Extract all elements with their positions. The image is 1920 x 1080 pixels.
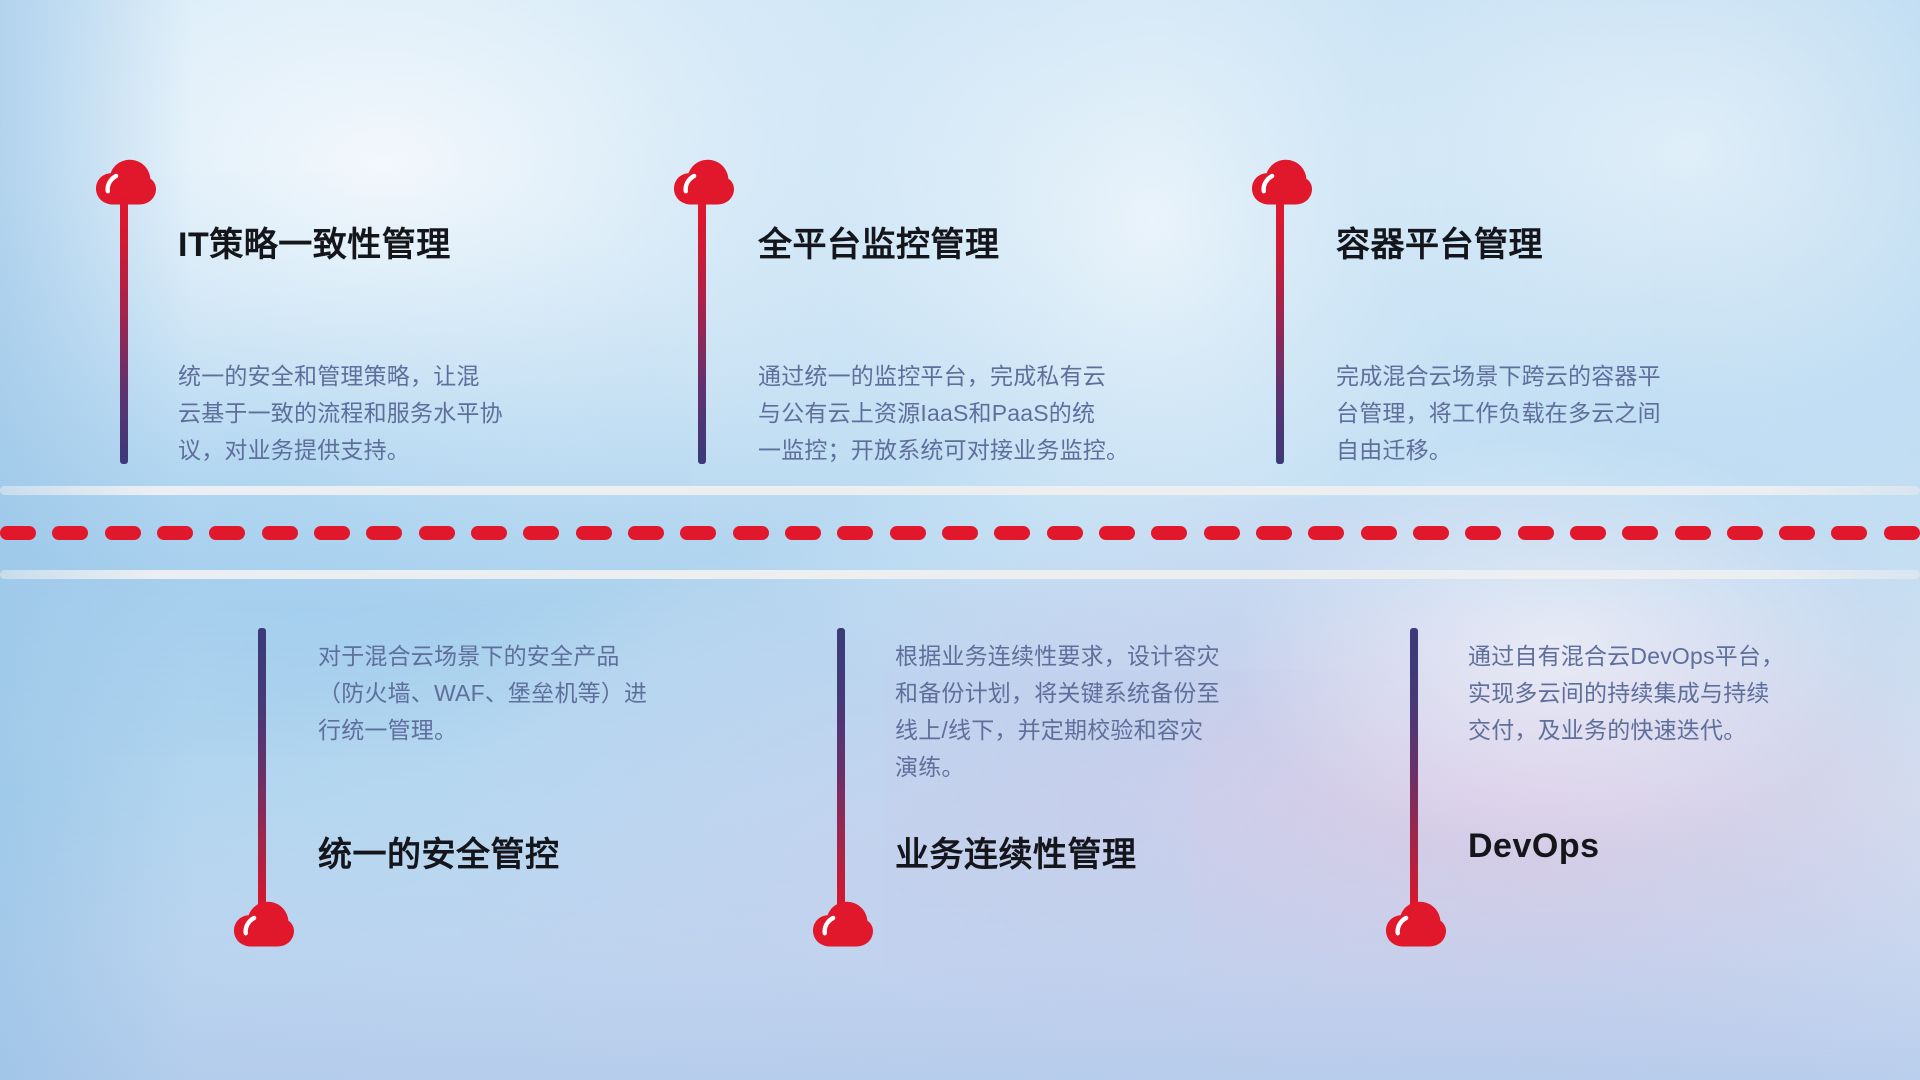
divider-dash [105,526,141,540]
card-description: 对于混合云场景下的安全产品 （防火墙、WAF、堡垒机等）进 行统一管理。 [318,638,748,749]
connector-line [1410,628,1418,908]
divider-dash [890,526,926,540]
divider-dash [942,526,978,540]
connector-line [837,628,845,908]
card-description: 统一的安全和管理策略，让混 云基于一致的流程和服务水平协 议，对业务提供支持。 [178,358,618,469]
divider-dash [419,526,455,540]
card-description: 完成混合云场景下跨云的容器平 台管理，将工作负载在多云之间 自由迁移。 [1336,358,1776,469]
divider-dash [1151,526,1187,540]
divider-dash [994,526,1030,540]
divider-dash [1204,526,1240,540]
card-description: 通过统一的监控平台，完成私有云 与公有云上资源IaaS和PaaS的统 一监控；开… [758,358,1218,469]
card-title: 全平台监控管理 [758,217,1000,266]
section-divider [0,486,1920,586]
divider-dash [1518,526,1554,540]
divider-dash [1256,526,1292,540]
divider-rail-top [0,486,1920,495]
card-description: 通过自有混合云DevOps平台， 实现多云间的持续集成与持续 交付，及业务的快速… [1468,638,1898,749]
divider-dash [1622,526,1658,540]
card-title: DevOps [1468,827,1600,866]
connector-line [698,196,706,464]
divider-dash [1675,526,1711,540]
divider-dash [157,526,193,540]
divider-dash [209,526,245,540]
divider-dash [1099,526,1135,540]
divider-dash [1779,526,1815,540]
divider-dash [471,526,507,540]
card-title: 统一的安全管控 [318,827,560,876]
infographic-canvas: IT策略一致性管理 统一的安全和管理策略，让混 云基于一致的流程和服务水平协 议… [0,0,1920,1080]
cloud-icon [232,900,294,948]
divider-dash [1465,526,1501,540]
divider-dash [1570,526,1606,540]
card-title: IT策略一致性管理 [178,217,451,266]
divider-dash [1413,526,1449,540]
card-title: 容器平台管理 [1336,217,1543,266]
divider-dash [785,526,821,540]
connector-line [258,628,266,908]
divider-dash [733,526,769,540]
card-description: 根据业务连续性要求，设计容灾 和备份计划，将关键系统备份至 线上/线下，并定期校… [895,638,1335,786]
divider-dash [1361,526,1397,540]
divider-dash [1047,526,1083,540]
cloud-icon [811,900,873,948]
divider-dashed-line [0,526,1920,540]
divider-dash [837,526,873,540]
divider-dash [1831,526,1867,540]
divider-dash [366,526,402,540]
divider-dash [314,526,350,540]
divider-dash [1308,526,1344,540]
divider-dash [1727,526,1763,540]
divider-rail-bottom [0,570,1920,579]
divider-dash [1884,526,1920,540]
card-title: 业务连续性管理 [895,827,1137,876]
divider-dash [628,526,664,540]
divider-dash [262,526,298,540]
connector-line [120,196,128,464]
divider-dash [680,526,716,540]
divider-dash [0,526,36,540]
divider-dash [52,526,88,540]
divider-dash [576,526,612,540]
divider-dash [523,526,559,540]
cloud-icon [1384,900,1446,948]
connector-line [1276,196,1284,464]
